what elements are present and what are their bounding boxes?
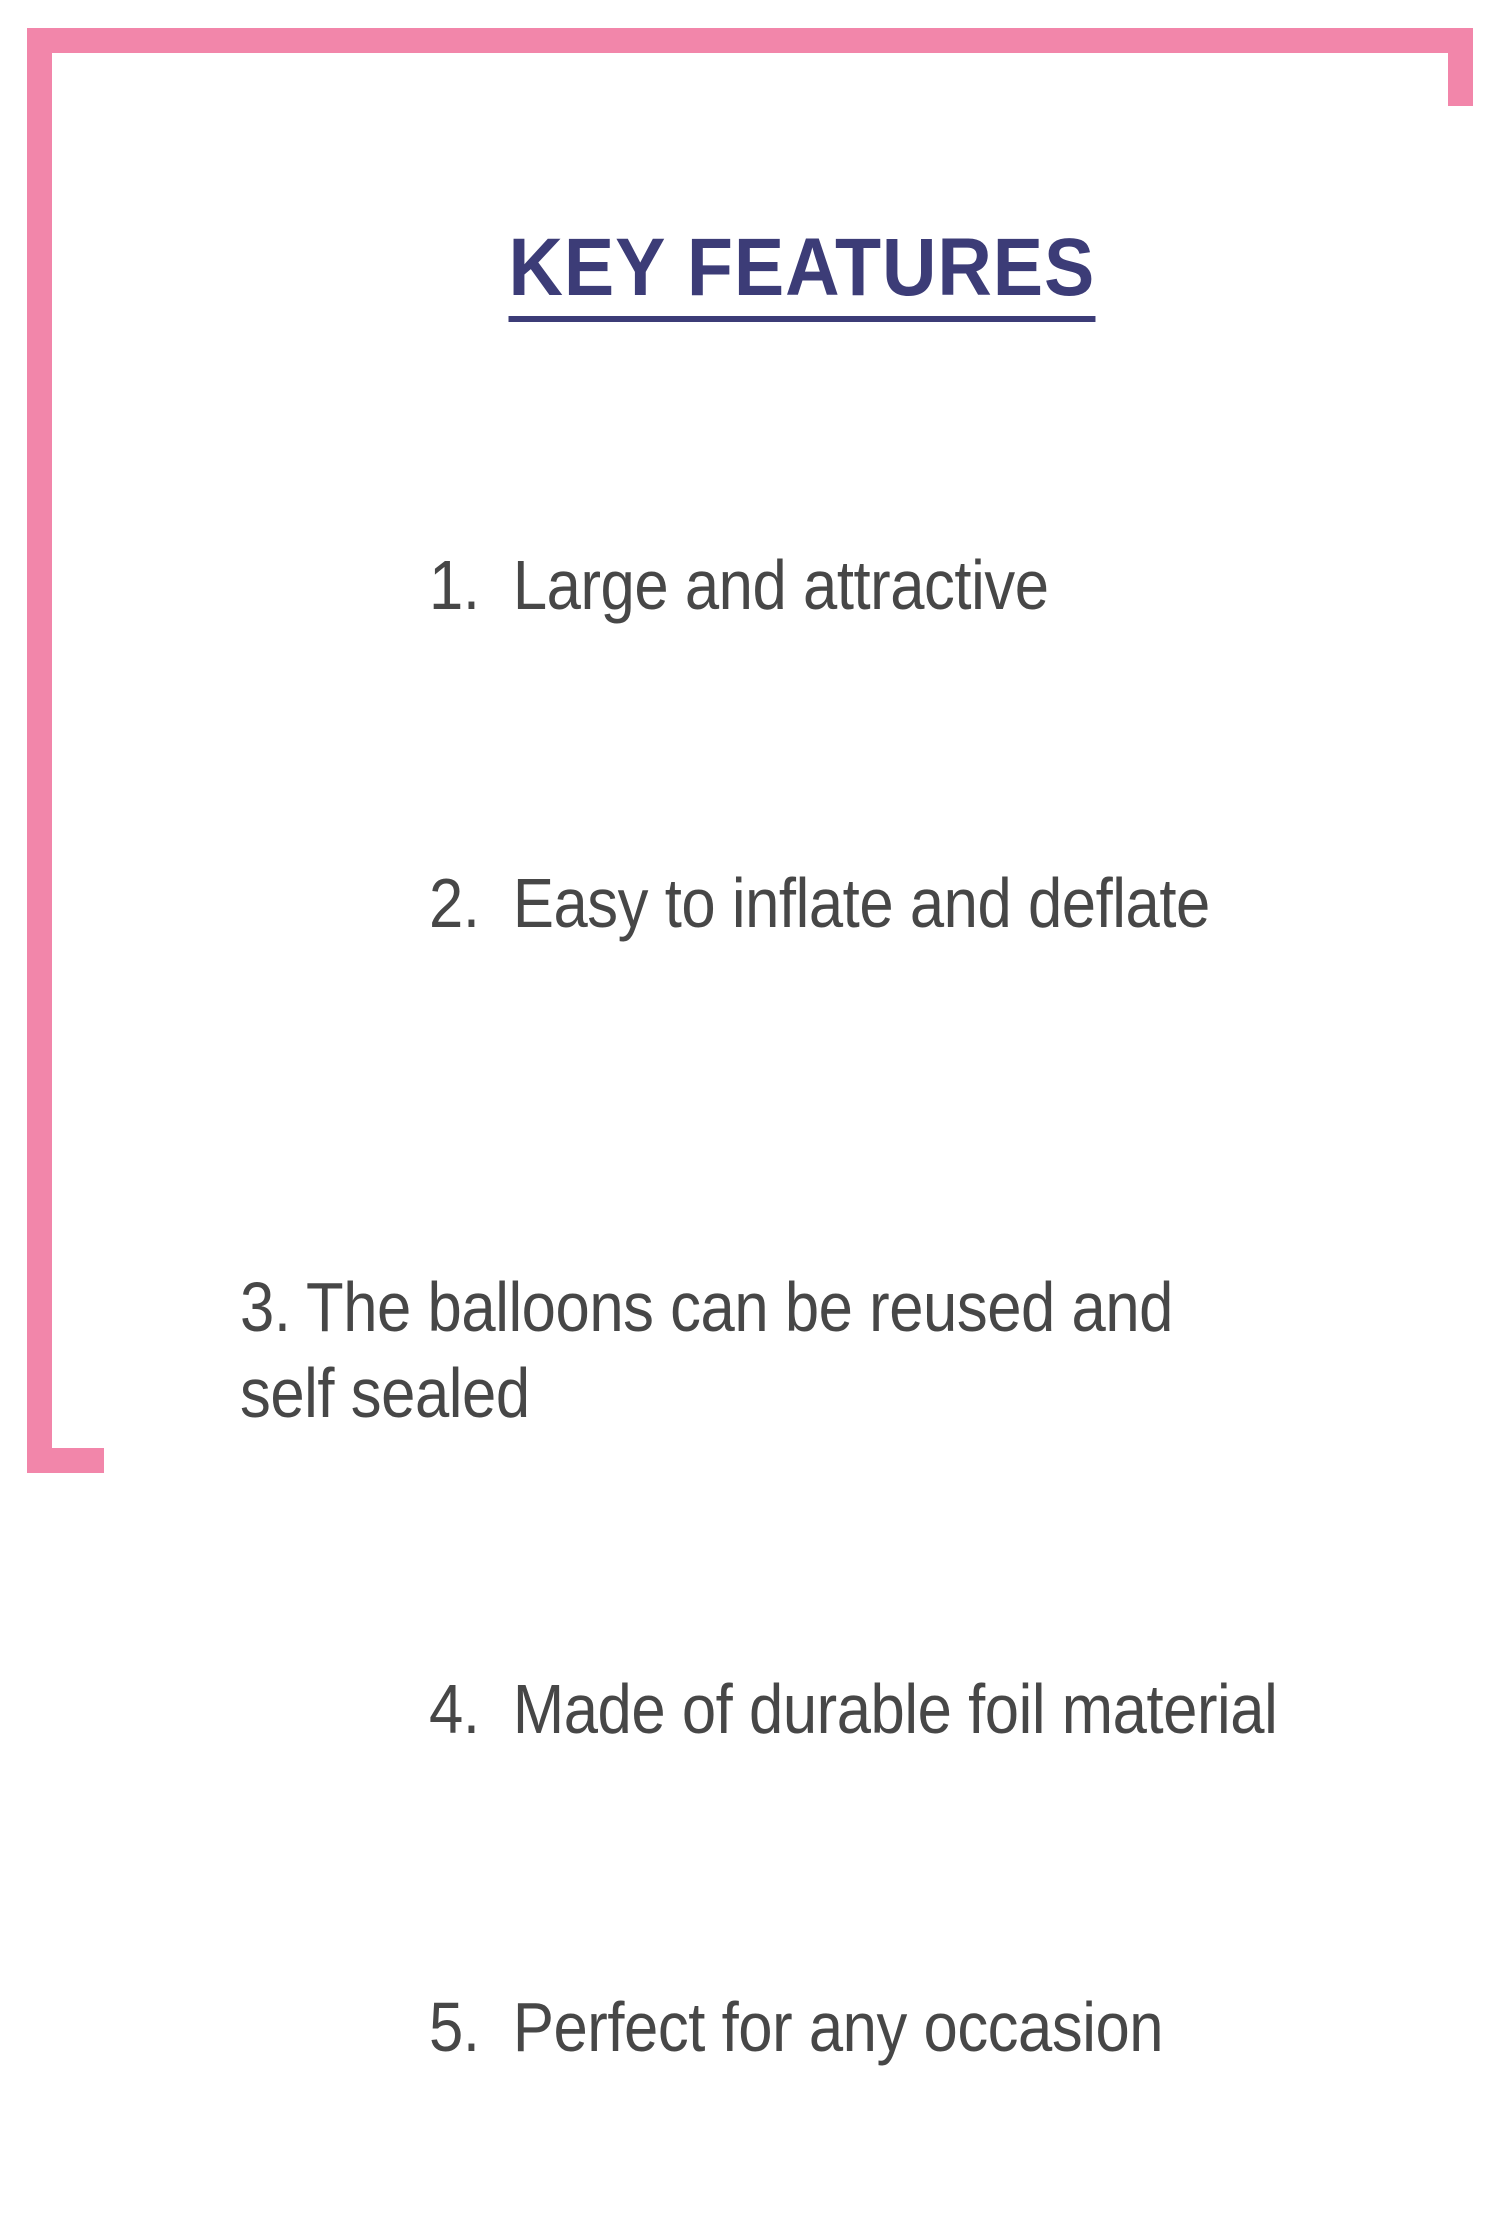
card-content-area: KEY FEATURES 1. Large and attractive 2. … bbox=[104, 106, 1500, 1501]
title-block: KEY FEATURES bbox=[104, 226, 1500, 322]
feature-item-text: 2. Easy to inflate and deflate bbox=[429, 860, 1210, 946]
key-features-card: KEY FEATURES 1. Large and attractive 2. … bbox=[0, 0, 1500, 1500]
page-title: KEY FEATURES bbox=[509, 226, 1096, 322]
pink-decorative-frame: KEY FEATURES 1. Large and attractive 2. … bbox=[27, 28, 1473, 1473]
features-list: 1. Large and attractive 2. Easy to infla… bbox=[240, 456, 1480, 2216]
feature-item-text: 5. Perfect for any occasion bbox=[429, 1984, 1163, 2070]
feature-item-text: 4. Made of durable foil material bbox=[429, 1666, 1277, 1752]
list-item: 2. Easy to inflate and deflate bbox=[240, 774, 1480, 1032]
list-item: 5. Perfect for any occasion bbox=[240, 1898, 1480, 2156]
list-item: 4. Made of durable foil material bbox=[240, 1580, 1480, 1838]
list-item: 3. The balloons can be reused and self s… bbox=[240, 1092, 1480, 1522]
list-item: 1. Large and attractive bbox=[240, 456, 1480, 714]
feature-item-text: 1. Large and attractive bbox=[429, 542, 1049, 628]
feature-item-text: 3. The balloons can be reused and self s… bbox=[240, 1264, 1173, 1436]
